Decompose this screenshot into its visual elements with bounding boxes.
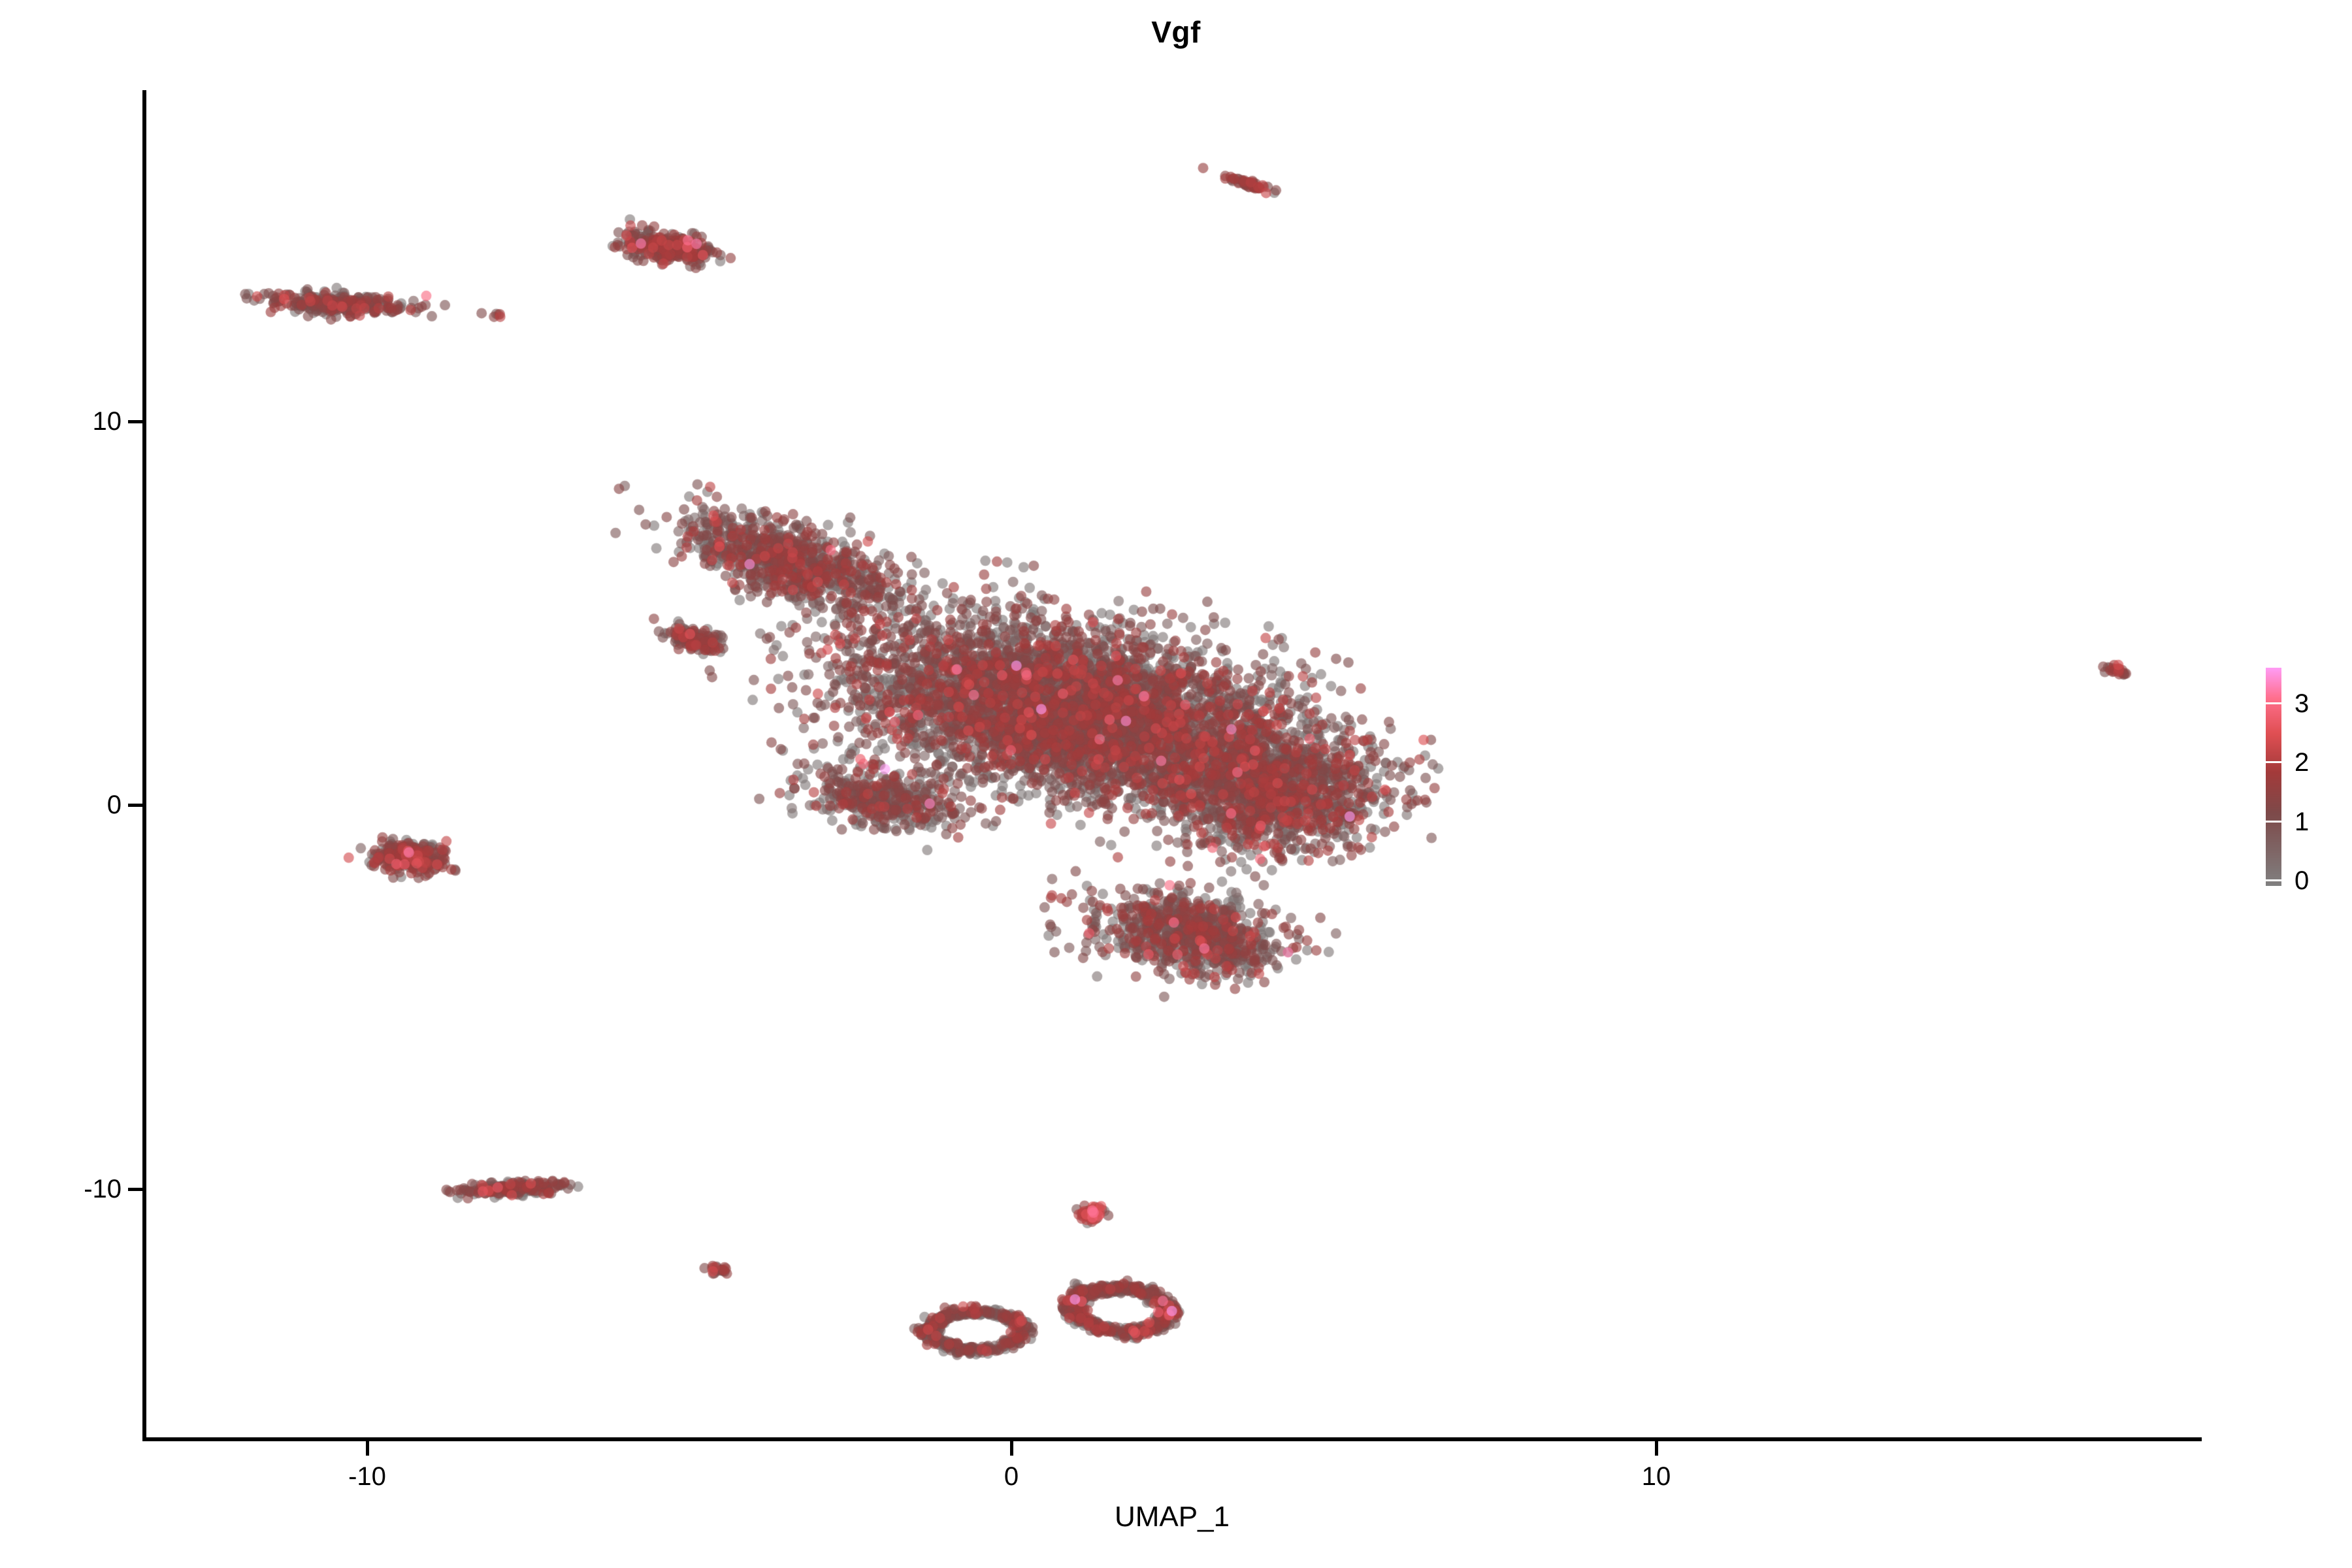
colorbar-tick-0 [2266, 879, 2281, 881]
x-tick-label-10: 10 [1642, 1463, 1671, 1490]
colorbar-tick-1 [2266, 821, 2281, 823]
y-tick-mark-0 [128, 804, 142, 807]
x-axis-line [142, 1437, 2202, 1441]
colorbar-label-1: 1 [2295, 809, 2309, 835]
colorbar-label-0: 0 [2295, 868, 2309, 894]
x-tick-label-0: 0 [1004, 1463, 1019, 1490]
x-tick-mark-0 [1010, 1441, 1013, 1456]
feature-plot-root: Vgf -10 0 10 10 0 -10 UMAP_1 UMAP_2 3 2 … [0, 0, 2352, 1568]
scatter-plot-canvas [145, 90, 2202, 1439]
colorbar-label-2: 2 [2295, 749, 2309, 776]
colorbar-gradient [2266, 668, 2281, 886]
y-tick-mark-10 [128, 420, 142, 423]
x-tick-mark-10 [1655, 1441, 1658, 1456]
plot-title-text: Vgf [0, 17, 2352, 47]
colorbar-tick-2 [2266, 761, 2281, 763]
y-tick-mark-minus10 [128, 1188, 142, 1191]
x-tick-label-minus10: -10 [348, 1463, 386, 1490]
colorbar-label-3: 3 [2295, 691, 2309, 717]
colorbar-tick-3 [2266, 702, 2281, 704]
y-axis-title: UMAP_2 [46, 0, 91, 1568]
legend-colorbar: 3 2 1 0 [2266, 668, 2351, 890]
x-axis-title: UMAP_1 [142, 1503, 2202, 1531]
y-axis-line [142, 90, 146, 1441]
x-tick-mark-minus10 [366, 1441, 369, 1456]
